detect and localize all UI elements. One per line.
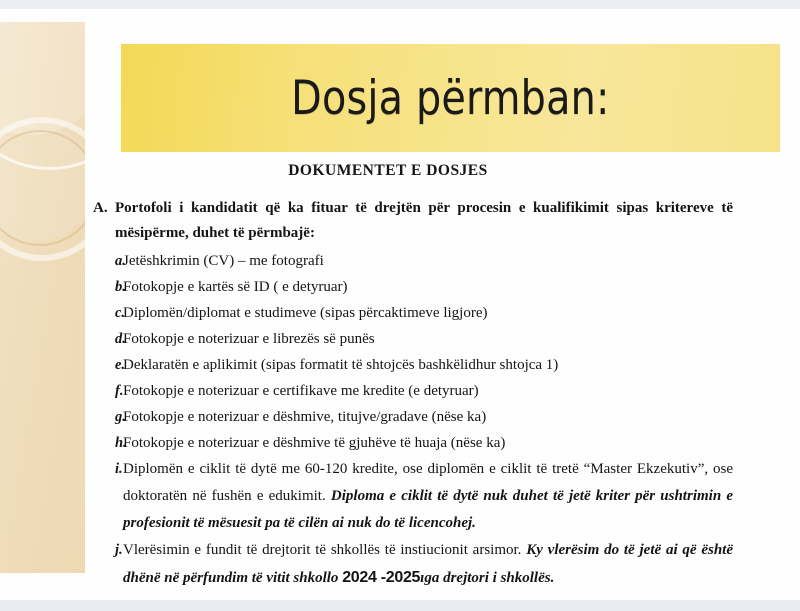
list-item-text: Fotokopje e noterizuar e librezës së pun… — [123, 326, 733, 352]
document-heading: DOKUMENTET E DOSJES — [93, 162, 733, 180]
list-item: g. Fotokopje e noterizuar e dëshmive, ti… — [93, 404, 733, 430]
list-item: h. Fotokopje e noterizuar e dëshmive të … — [93, 430, 733, 456]
list-item-text: Jetëshkrimin (CV) – me fotografi — [123, 248, 733, 274]
list-item: c. Diplomën/diplomat e studimeve (sipas … — [93, 300, 733, 326]
list-item-text: Fotokopje e noterizuar e dëshmive, tituj… — [123, 404, 733, 430]
list-item-marker: d. — [93, 326, 123, 352]
list-item: j. Vlerësimin e fundit të drejtorit të s… — [93, 537, 733, 592]
list-item-marker: g. — [93, 404, 123, 430]
list-item-marker: f. — [93, 378, 123, 404]
list-item-marker: a. — [93, 248, 123, 274]
list-item-text: Diplomën/diplomat e studimeve (sipas për… — [123, 300, 733, 326]
list-item-marker: b. — [93, 274, 123, 300]
list-item-text: Fotokopje e noterizuar e dëshmive të gju… — [123, 430, 733, 456]
list-item-text-plain: Vlerësimin e fundit të drejtorit të shko… — [123, 542, 526, 558]
slide-root: Dosja përmban: DOKUMENTET E DOSJES A. Po… — [0, 0, 800, 611]
top-chrome-strip — [0, 0, 800, 9]
decorative-sidebar — [0, 22, 85, 573]
list-item-text: Fotokopje e kartës së ID ( e detyruar) — [123, 274, 733, 300]
list-item-text: Diplomën e ciklit të dytë me 60-120 kred… — [123, 456, 733, 537]
list-item-text: Vlerësimin e fundit të drejtorit të shko… — [123, 537, 733, 592]
list-item-text-emphasis-second: ıga drejtori i shkollës. — [420, 570, 554, 586]
decorative-ring-bottom-inner — [0, 130, 85, 246]
bottom-chrome-strip — [0, 600, 800, 611]
list-item-marker: e. — [93, 352, 123, 378]
inserted-school-year: 2024 -2025 — [342, 569, 420, 586]
section-marker: A. — [93, 196, 115, 221]
list-item: f. Fotokopje e noterizuar e certifikave … — [93, 378, 733, 404]
list-item: i. Diplomën e ciklit të dytë me 60-120 k… — [93, 456, 733, 537]
list-item: a. Jetëshkrimin (CV) – me fotografi — [93, 248, 733, 274]
list-item-text: Fotokopje e noterizuar e certifikave me … — [123, 378, 733, 404]
list-item-marker: j. — [93, 537, 123, 563]
list-item: d. Fotokopje e noterizuar e librezës së … — [93, 326, 733, 352]
title-banner: Dosja përmban: — [121, 44, 780, 152]
slide-title: Dosja përmban: — [291, 75, 609, 122]
list-item-text: Deklaratën e aplikimit (sipas formatit t… — [123, 352, 733, 378]
document-body: DOKUMENTET E DOSJES A. Portofoli i kandi… — [93, 162, 733, 592]
list-item-marker: i. — [93, 456, 123, 482]
document-item-list: a. Jetëshkrimin (CV) – me fotografi b. F… — [93, 248, 733, 592]
section-paragraph-a: A. Portofoli i kandidatit që ka fituar t… — [93, 196, 733, 246]
list-item-marker: h. — [93, 430, 123, 456]
list-item: e. Deklaratën e aplikimit (sipas formati… — [93, 352, 733, 378]
section-text: Portofoli i kandidatit që ka fituar të d… — [115, 196, 733, 246]
list-item-marker: c. — [93, 300, 123, 326]
list-item: b. Fotokopje e kartës së ID ( e detyruar… — [93, 274, 733, 300]
